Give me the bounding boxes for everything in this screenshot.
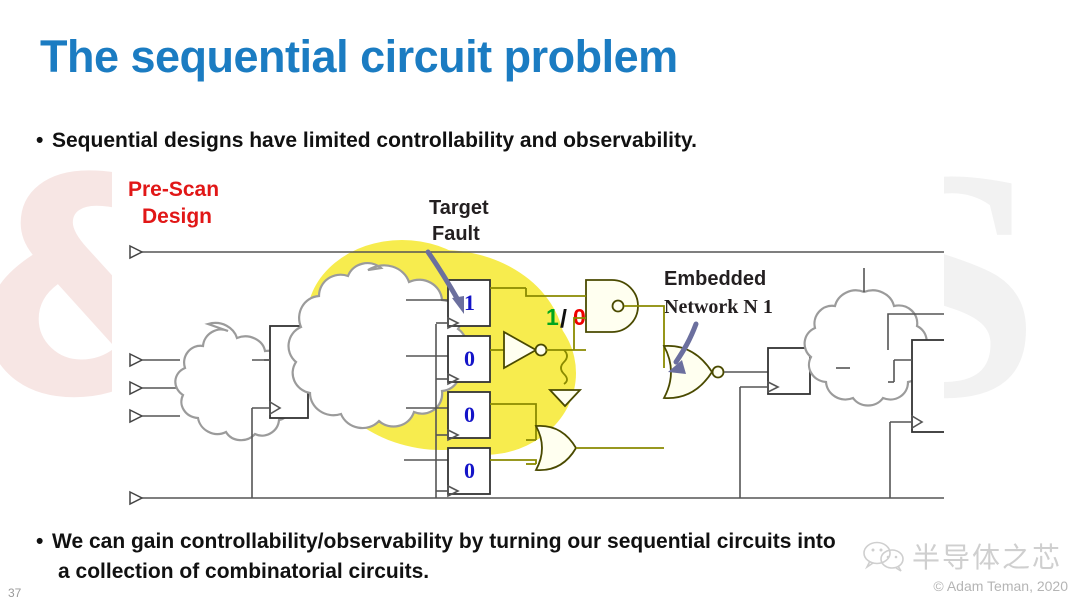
flipflop-1-value: 1 [464,290,475,315]
flipflop-3-value: 0 [464,402,475,427]
fault-good-value: 1 [546,304,559,330]
bullet-marker-icon-2: • [36,527,52,557]
bullet-bottom-line2: a collection of combinatorial circuits. [58,557,1056,587]
prescan-line2: Design [142,205,212,228]
flipflop-2-value: 0 [464,346,475,371]
target-line1: Target [429,197,489,219]
flipflop-4-value: 0 [464,458,475,483]
fault-slash: / [560,305,567,333]
bullet-bottom: •We can gain controllability/observabili… [36,527,1056,587]
copyright-credit: © Adam Teman, 2020 [933,578,1068,594]
fault-bad-value: 0 [573,304,586,330]
page-title: The sequential circuit problem [40,30,678,84]
bullet-bottom-line1: We can gain controllability/observabilit… [52,530,836,553]
prescan-line1: Pre-Scan [128,178,219,201]
bullet-top-text: Sequential designs have limited controll… [52,129,697,152]
bullet-top: •Sequential designs have limited control… [36,126,697,156]
circuit-diagram: .wg{stroke:#555;stroke-width:1.6;fill:no… [112,168,944,516]
target-line2: Fault [432,223,480,245]
slide-number: 37 [8,586,21,600]
embedded-line2: Network N 1 [664,296,773,318]
bullet-marker-icon: • [36,126,52,156]
slide-root: & S The sequential circuit problem •Sequ… [0,0,1080,608]
embedded-line1: Embedded [664,268,766,290]
